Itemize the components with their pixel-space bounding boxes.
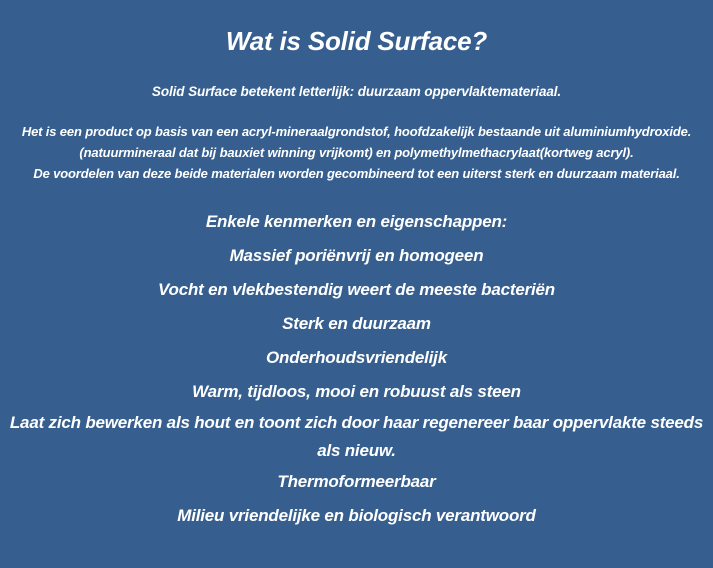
description-line: (natuurmineraal dat bij bauxiet winning …	[0, 142, 713, 163]
feature-item: Thermoformeerbaar	[0, 465, 713, 499]
slide-container: Wat is Solid Surface? Solid Surface bete…	[0, 0, 713, 568]
page-title: Wat is Solid Surface?	[0, 26, 713, 57]
description-line: De voordelen van deze beide materialen w…	[0, 163, 713, 184]
feature-item: Warm, tijdloos, mooi en robuust als stee…	[0, 375, 713, 409]
description-paragraph: Het is een product op basis van een acry…	[0, 121, 713, 184]
feature-item: Sterk en duurzaam	[0, 307, 713, 341]
features-list: Enkele kenmerken en eigenschappen: Massi…	[0, 205, 713, 533]
feature-item: Laat zich bewerken als hout en toont zic…	[0, 409, 713, 465]
features-heading: Enkele kenmerken en eigenschappen:	[0, 205, 713, 239]
feature-item: Onderhoudsvriendelijk	[0, 341, 713, 375]
feature-item: Vocht en vlekbestendig weert de meeste b…	[0, 273, 713, 307]
slide-subtitle: Solid Surface betekent letterlijk: duurz…	[0, 84, 713, 99]
feature-item: Massief poriënvrij en homogeen	[0, 239, 713, 273]
description-line: Het is een product op basis van een acry…	[0, 121, 713, 142]
feature-item: Milieu vriendelijke en biologisch verant…	[0, 499, 713, 533]
